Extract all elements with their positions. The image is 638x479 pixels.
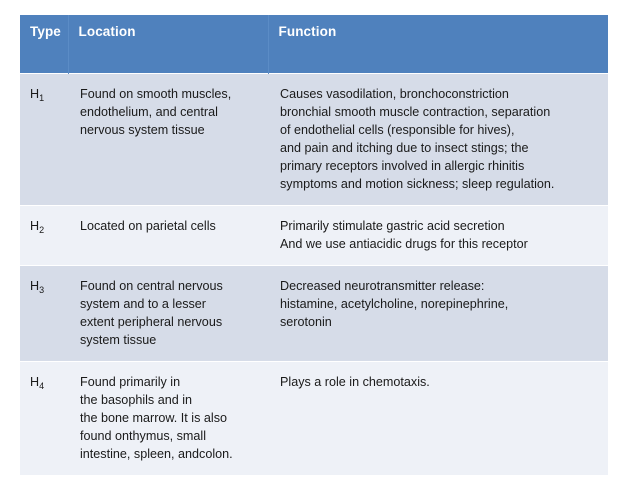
- cell-location: Found on smooth muscles, endothelium, an…: [68, 74, 268, 206]
- cell-receptor-type: H4: [20, 362, 68, 476]
- cell-function: Causes vasodilation, bronchoconstriction…: [268, 74, 608, 206]
- table-header: Type Location Function: [20, 15, 608, 74]
- table-row: H4 Found primarily in the basophils and …: [20, 362, 608, 476]
- receptor-type-letter: H: [30, 219, 39, 233]
- receptor-type-letter: H: [30, 87, 39, 101]
- receptor-type-subscript: 1: [39, 93, 44, 103]
- table-row: H2 Located on parietal cells Primarily s…: [20, 206, 608, 266]
- table-header-row: Type Location Function: [20, 15, 608, 74]
- cell-receptor-type: H1: [20, 74, 68, 206]
- receptor-type-subscript: 4: [39, 381, 44, 391]
- receptor-type-subscript: 3: [39, 285, 44, 295]
- column-header-function: Function: [268, 15, 608, 74]
- receptor-type-subscript: 2: [39, 225, 44, 235]
- cell-receptor-type: H3: [20, 266, 68, 362]
- table-body: H1 Found on smooth muscles, endothelium,…: [20, 74, 608, 476]
- receptor-type-letter: H: [30, 279, 39, 293]
- histamine-receptor-table: Type Location Function H1 Found on smoot…: [20, 15, 608, 475]
- table-row: H1 Found on smooth muscles, endothelium,…: [20, 74, 608, 206]
- cell-function: Plays a role in chemotaxis.: [268, 362, 608, 476]
- table-row: H3 Found on central nervous system and t…: [20, 266, 608, 362]
- cell-function: Primarily stimulate gastric acid secreti…: [268, 206, 608, 266]
- slide-canvas: Type Location Function H1 Found on smoot…: [0, 0, 638, 479]
- cell-location: Found primarily in the basophils and in …: [68, 362, 268, 476]
- cell-location: Found on central nervous system and to a…: [68, 266, 268, 362]
- cell-receptor-type: H2: [20, 206, 68, 266]
- cell-function: Decreased neurotransmitter release: hist…: [268, 266, 608, 362]
- cell-location: Located on parietal cells: [68, 206, 268, 266]
- column-header-type: Type: [20, 15, 68, 74]
- column-header-location: Location: [68, 15, 268, 74]
- receptor-type-letter: H: [30, 375, 39, 389]
